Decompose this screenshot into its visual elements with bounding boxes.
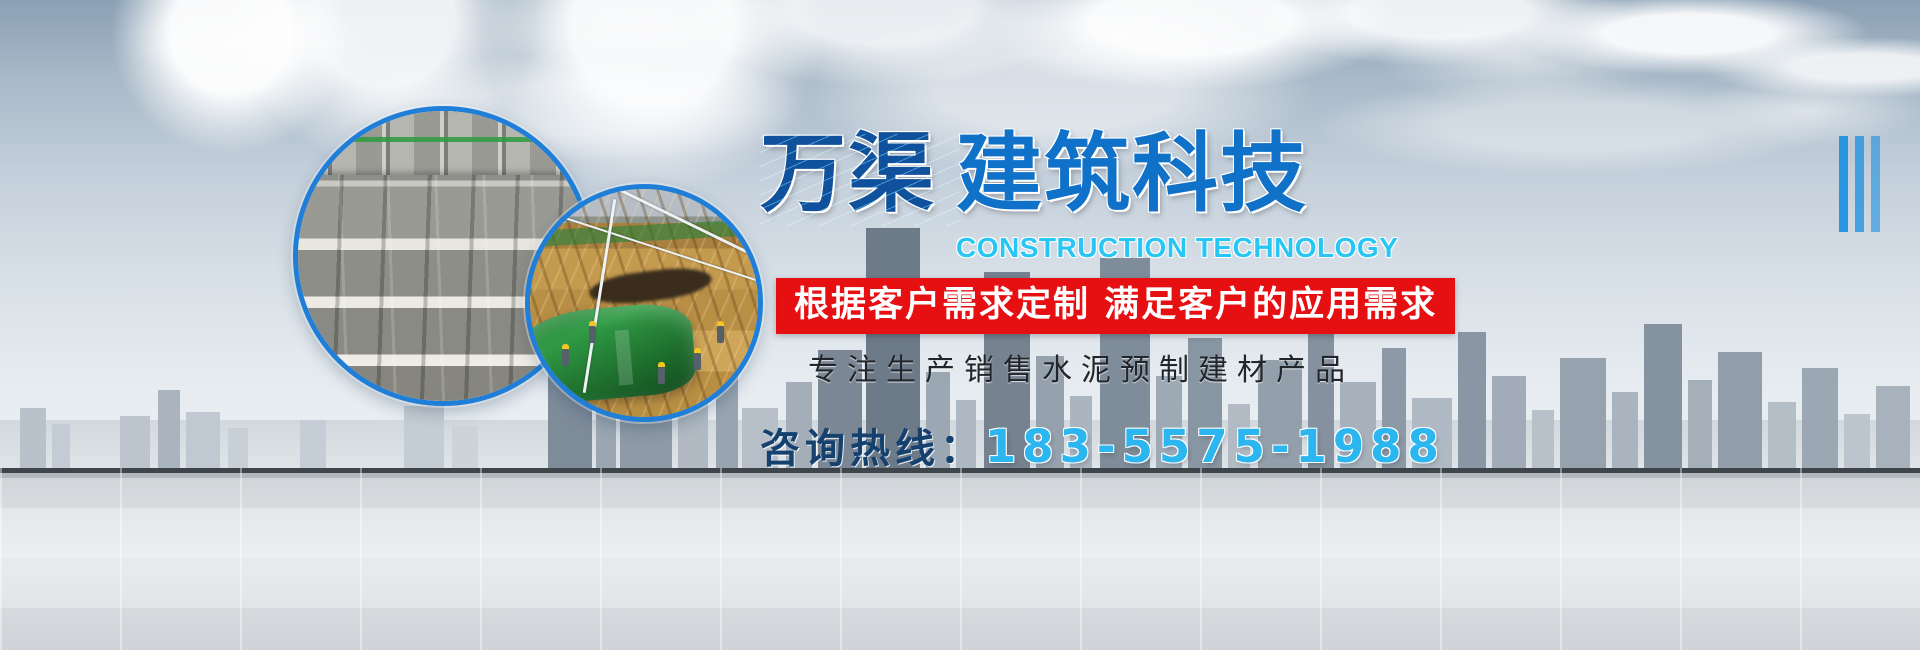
promo-banner: 万渠 建筑科技 CONSTRUCTION TECHNOLOGY 根据客户需求定制… (0, 0, 1920, 650)
slogan-text: 专注生产销售水泥预制建材产品 (808, 353, 1354, 389)
hotline-row: 咨询热线：183-5575-1988 (760, 416, 1445, 474)
bar-decoration-icon (1839, 136, 1880, 232)
product-photo-circle-secondary (525, 184, 763, 422)
hotline-label: 咨询热线： (760, 426, 985, 472)
ground-gloss (0, 468, 1920, 650)
brand-logo: 万渠 建筑科技 (760, 128, 1880, 228)
headline-group: 万渠 建筑科技 CONSTRUCTION TECHNOLOGY 根据客户需求定制… (760, 128, 1880, 228)
red-highlight-band: 根据客户需求定制 满足客户的应用需求 (776, 278, 1455, 334)
brand-name-part1: 万渠 (760, 128, 936, 220)
red-band-text: 根据客户需求定制 满足客户的应用需求 (794, 285, 1437, 325)
brand-name-part2: 建筑科技 (956, 128, 1308, 220)
brand-subtitle-en: CONSTRUCTION TECHNOLOGY (956, 232, 1398, 264)
hotline-number[interactable]: 183-5575-1988 (985, 420, 1445, 473)
